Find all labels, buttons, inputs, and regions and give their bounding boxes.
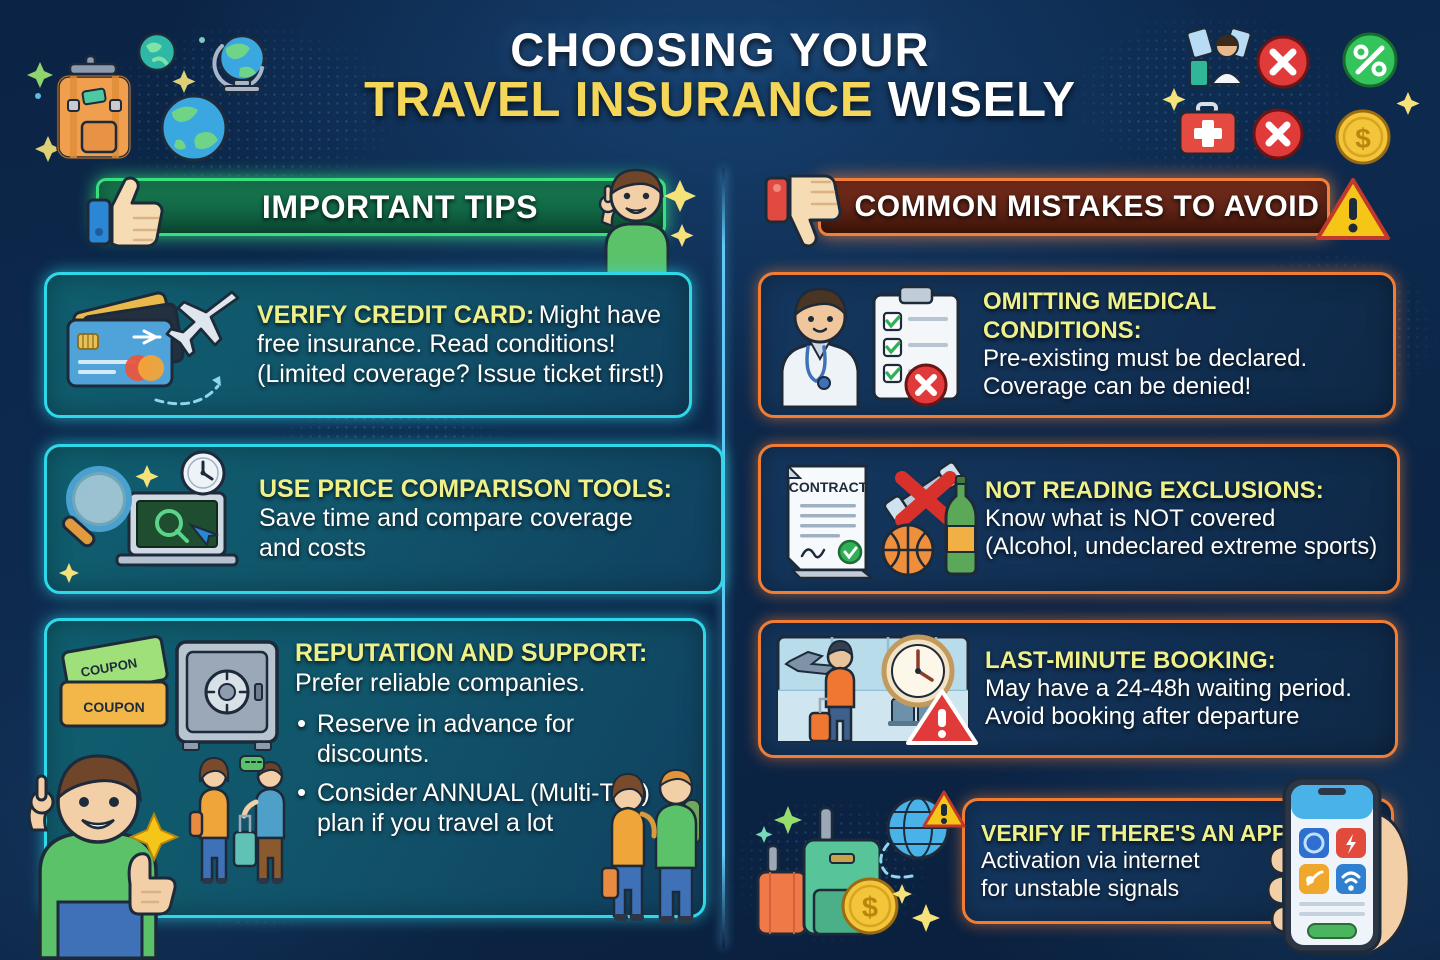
card-body-line: Prefer reliable companies. xyxy=(295,669,691,699)
card-body-line: Avoid booking after departure xyxy=(985,703,1383,731)
magnifier-laptop-clock-icon xyxy=(47,449,259,589)
card-body-line: Save time and compare coverage xyxy=(259,504,709,534)
card-heading: VERIFY IF THERE'S AN APP: xyxy=(981,820,1379,847)
bottle-icon xyxy=(946,476,976,574)
title-highlight: TRAVEL INSURANCE xyxy=(364,73,873,127)
credit-cards-airplane-icon xyxy=(47,280,257,410)
luggage-set-icon xyxy=(758,808,880,934)
coupon-icon: COUPON COUPON xyxy=(61,636,168,726)
mistake-card-omitting-medical-conditions[interactable]: OMITTING MEDICAL CONDITIONS: Pre-existin… xyxy=(758,272,1396,418)
tip-bullet-list: Reserve in advance for discounts. Consid… xyxy=(295,710,691,838)
tip-card-reputation-and-support-text: REPUTATION AND SUPPORT: Prefer reliable … xyxy=(295,621,703,848)
luggage-globe-decor-group: $ xyxy=(748,778,978,938)
section-header-mistakes-label: COMMON MISTAKES TO AVOID xyxy=(821,190,1327,224)
card-body-line: for unstable signals xyxy=(981,875,1379,902)
card-body-line: Know what is NOT covered xyxy=(985,505,1385,533)
section-header-tips-label: IMPORTANT TIPS xyxy=(99,189,663,226)
card-body-line: Activation via internet xyxy=(981,847,1379,874)
safe-icon xyxy=(177,642,277,750)
svg-text:$: $ xyxy=(1355,123,1371,154)
red-x-icon xyxy=(906,365,946,405)
mistake-card-verify-if-theres-an-app[interactable]: VERIFY IF THERE'S AN APP: Activation via… xyxy=(962,798,1394,924)
card-body-line: (Alcohol, undeclared extreme sports) xyxy=(985,533,1385,561)
card-body-line: (Limited coverage? Issue ticket first!) xyxy=(257,360,677,390)
coin-dollar-icon: $ xyxy=(843,879,897,933)
title-line-1: CHOOSING YOUR xyxy=(0,26,1440,75)
tip-card-verify-credit-card[interactable]: VERIFY CREDIT CARD: Might have free insu… xyxy=(44,272,692,418)
page-title: CHOOSING YOUR TRAVEL INSURANCE WISELY xyxy=(0,26,1440,127)
list-item: Reserve in advance for discounts. xyxy=(295,710,691,769)
doctor-checklist-icon xyxy=(761,278,983,412)
card-heading: OMITTING MEDICAL CONDITIONS: xyxy=(983,288,1381,345)
svg-text:$: $ xyxy=(862,892,878,924)
tip-card-reputation-and-support[interactable]: COUPON COUPON REPUTATION AND SUPPORT: xyxy=(44,618,706,918)
mistake-card-not-reading-exclusions-text: NOT READING EXCLUSIONS: Know what is NOT… xyxy=(985,477,1397,562)
card-body-line: free insurance. Read conditions! xyxy=(257,330,677,360)
tip-card-price-comparison-tools[interactable]: USE PRICE COMPARISON TOOLS: Save time an… xyxy=(44,444,724,594)
globe-warning-icon xyxy=(881,792,964,877)
card-heading: REPUTATION AND SUPPORT: xyxy=(295,639,691,669)
card-body-line: Pre-existing must be declared. xyxy=(983,345,1381,373)
sparkle-icon xyxy=(892,884,940,932)
coupon-safe-icon: COUPON COUPON xyxy=(47,621,295,751)
section-header-tips: IMPORTANT TIPS xyxy=(96,178,666,236)
mistake-card-last-minute-booking-text: LAST-MINUTE BOOKING: May have a 24-48h w… xyxy=(985,647,1395,732)
sparkle-icon xyxy=(664,180,696,247)
card-heading: VERIFY CREDIT CARD: xyxy=(257,301,534,329)
card-body-line: May have a 24-48h waiting period. xyxy=(985,675,1383,703)
mistake-card-omitting-medical-conditions-text: OMITTING MEDICAL CONDITIONS: Pre-existin… xyxy=(983,288,1393,401)
title-line-2: TRAVEL INSURANCE WISELY xyxy=(0,75,1440,127)
section-header-mistakes: COMMON MISTAKES TO AVOID xyxy=(818,178,1330,236)
tip-card-verify-credit-card-text: VERIFY CREDIT CARD: Might have free insu… xyxy=(257,301,689,390)
list-item: Consider ANNUAL (Multi-Trip) plan if you… xyxy=(295,779,691,838)
card-heading: USE PRICE COMPARISON TOOLS: xyxy=(259,475,709,505)
coupon-label: COUPON xyxy=(83,699,144,715)
infographic-canvas: $ CHOOSING YOUR TRAVEL INSURANCE WISELY … xyxy=(0,0,1440,960)
card-body-line: Coverage can be denied! xyxy=(983,373,1381,401)
laptop-icon xyxy=(117,493,237,565)
magnifier-icon xyxy=(61,469,129,548)
airport-clock-warning-icon xyxy=(761,626,985,752)
sparkle-icon xyxy=(756,806,803,843)
mistake-card-not-reading-exclusions[interactable]: CONTRACT xyxy=(758,444,1400,594)
clock-icon xyxy=(182,452,224,494)
contract-label: CONTRACT xyxy=(789,479,868,495)
mistake-card-verify-if-theres-an-app-text: VERIFY IF THERE'S AN APP: Activation via… xyxy=(965,820,1391,901)
card-body-line: and costs xyxy=(259,534,709,564)
contract-sports-alcohol-icon: CONTRACT xyxy=(761,451,985,587)
card-body-line: Might have xyxy=(539,301,661,329)
card-heading: LAST-MINUTE BOOKING: xyxy=(985,647,1383,675)
basketball-icon xyxy=(883,525,933,575)
title-rest: WISELY xyxy=(873,73,1076,127)
contract-document-icon: CONTRACT xyxy=(788,466,872,578)
mistake-card-last-minute-booking[interactable]: LAST-MINUTE BOOKING: May have a 24-48h w… xyxy=(758,620,1398,758)
tip-card-price-comparison-tools-text: USE PRICE COMPARISON TOOLS: Save time an… xyxy=(259,475,721,564)
card-heading: NOT READING EXCLUSIONS: xyxy=(985,477,1385,505)
doctor-icon xyxy=(782,289,858,407)
